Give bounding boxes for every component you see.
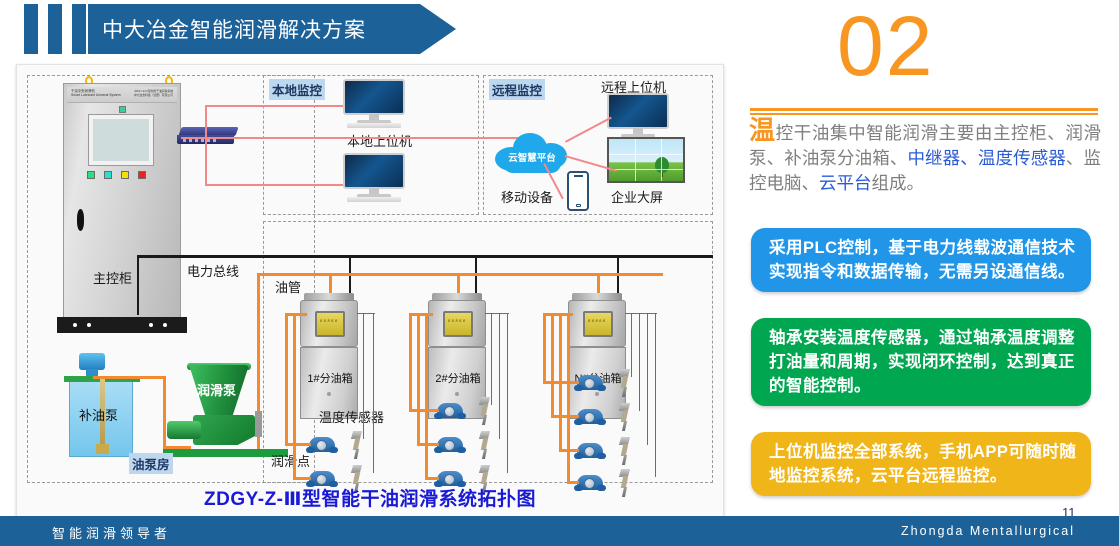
label-remote-host: 远程上位机 bbox=[601, 77, 666, 96]
signal-g2-a bbox=[491, 313, 492, 405]
oil-branch-3 bbox=[597, 273, 600, 293]
section-intro-text: 温控干油集中智能润滑主要由主控柜、润滑泵、补油泵分油箱、中继器、温度传感器、监控… bbox=[749, 120, 1101, 196]
dbox2-display: 88888 bbox=[448, 318, 467, 323]
diagram-caption: ZDGY-Z-Ⅲ型智能干油润滑系统拓扑图 bbox=[17, 484, 723, 511]
topology-diagram-panel: 干油中央润滑机 Smart Lubricant Univeral System … bbox=[16, 64, 724, 518]
signal-g1-a bbox=[363, 313, 364, 439]
enterprise-big-screen bbox=[607, 137, 685, 183]
label-local-monitoring: 本地监控 bbox=[269, 79, 325, 100]
signal-in-g3 bbox=[625, 313, 657, 314]
label-distribution-box-2: 2#分油箱 bbox=[429, 370, 487, 386]
temperature-sensor-icon bbox=[351, 431, 362, 459]
oil-feed-g1-a bbox=[285, 443, 311, 446]
power-drop-3 bbox=[617, 255, 619, 297]
temperature-sensor-icon bbox=[479, 397, 490, 425]
oil-feed-g2-a bbox=[409, 313, 412, 409]
header-accent-bar-2 bbox=[48, 4, 62, 54]
power-bus-line bbox=[137, 255, 713, 258]
intro-highlight1: 中继器、温度传感器 bbox=[907, 148, 1065, 168]
cabinet-lan-stub bbox=[181, 137, 183, 139]
temperature-sensor-icon bbox=[619, 437, 630, 465]
cloud-to-remote-host-link bbox=[565, 117, 612, 143]
footer-slogan: 智能润滑领导者 bbox=[52, 523, 171, 542]
power-drop-1 bbox=[349, 255, 351, 297]
header-accent-bar-3 bbox=[72, 4, 86, 54]
cabinet-hmi-screen[interactable] bbox=[89, 115, 153, 165]
cabinet-base bbox=[57, 317, 187, 333]
oil-feed-g3-c bbox=[559, 313, 562, 449]
cabinet-door-handle[interactable] bbox=[77, 209, 84, 231]
lube-point-bearing bbox=[309, 437, 335, 454]
lube-point-bearing bbox=[437, 437, 463, 454]
refill-to-lube-line bbox=[163, 376, 166, 448]
remote-host-monitor bbox=[607, 93, 669, 141]
oil-feed-g1 bbox=[285, 313, 288, 445]
dbox3-display: 88888 bbox=[588, 318, 607, 323]
intro-lead-char: 温 bbox=[749, 115, 776, 145]
oil-feed-g2-b2 bbox=[417, 443, 439, 446]
label-mobile-device: 移动设备 bbox=[501, 187, 553, 206]
section-divider bbox=[750, 108, 1098, 115]
label-main-cabinet: 主控柜 bbox=[93, 268, 132, 287]
distribution-box-1: 88888 1#分油箱 bbox=[300, 293, 358, 419]
lube-point-bearing bbox=[577, 443, 603, 460]
intro-highlight2: 云平台 bbox=[819, 173, 872, 193]
oil-branch-2 bbox=[457, 273, 460, 293]
signal-g3-d bbox=[655, 313, 656, 477]
temperature-sensor-icon bbox=[619, 369, 630, 397]
oil-feed-g3-d bbox=[567, 313, 570, 481]
oil-out-g3 bbox=[543, 313, 573, 316]
oil-feed-g3-b bbox=[551, 313, 554, 415]
oil-branch-1 bbox=[329, 273, 332, 293]
label-power-bus: 电力总线 bbox=[187, 261, 239, 280]
oil-feed-g2-a2 bbox=[409, 409, 439, 412]
label-enterprise-screen: 企业大屏 bbox=[611, 187, 663, 206]
section-number: 02 bbox=[837, 4, 934, 88]
remote-cluster: 云智慧平台 远程上位机 移动设备 企业大屏 bbox=[483, 75, 713, 215]
signal-g3-b bbox=[639, 313, 640, 411]
indicator-led-green bbox=[87, 171, 95, 179]
title-banner: 中大冶金智能润滑解决方案 bbox=[88, 4, 456, 54]
oil-feed-g2-c bbox=[425, 313, 428, 477]
label-lube-point: 润滑点 bbox=[271, 451, 310, 470]
dbox1-display: 88888 bbox=[320, 318, 339, 323]
temperature-sensor-icon bbox=[479, 431, 490, 459]
distribution-box-2: 88888 2#分油箱 bbox=[428, 293, 486, 419]
indicator-led-cyan bbox=[104, 171, 112, 179]
callout-remote-monitoring: 上位机监控全部系统，手机APP可随时随地监控系统，云平台远程监控。 bbox=[751, 432, 1091, 496]
signal-in-g2 bbox=[485, 313, 509, 314]
indicator-led-red bbox=[138, 171, 146, 179]
network-switch bbox=[177, 127, 237, 145]
page-title: 中大冶金智能润滑解决方案 bbox=[102, 14, 366, 44]
mobile-device-icon bbox=[567, 171, 589, 211]
label-pump-room: 油泵房 bbox=[129, 453, 173, 474]
oil-feed-g1b bbox=[293, 313, 296, 479]
signal-g1-b bbox=[373, 313, 374, 473]
oil-feed-g2-c2 bbox=[425, 477, 439, 480]
lan-to-monitor-bottom bbox=[205, 184, 343, 186]
label-cloud-platform: 云智慧平台 bbox=[495, 150, 569, 164]
power-drop-2 bbox=[475, 255, 477, 297]
oil-out-g1 bbox=[285, 313, 307, 316]
label-temp-sensor: 温度传感器 bbox=[319, 407, 384, 426]
header-accent-bar-1 bbox=[24, 4, 38, 54]
signal-g3-a bbox=[631, 313, 632, 377]
oil-out-g2 bbox=[409, 313, 433, 316]
callout-temp-sensor-control: 轴承安装温度传感器，通过轴承温度调整打油量和周期，实现闭环控制，达到真正的智能控… bbox=[751, 318, 1091, 406]
intro-part3: 组成。 bbox=[872, 173, 925, 193]
footer-company-name: Zhongda Mentallurgical bbox=[901, 524, 1075, 538]
cabinet-nameplate: 干油中央润滑机 Smart Lubricant Univeral System … bbox=[67, 87, 177, 103]
refill-out-line bbox=[93, 376, 165, 379]
local-host-monitor-top bbox=[343, 79, 405, 127]
lan-backbone bbox=[181, 137, 531, 139]
right-content-column: 02 温控干油集中智能润滑主要由主控柜、润滑泵、补油泵分油箱、中继器、温度传感器… bbox=[745, 0, 1119, 520]
oil-feed-g1-b bbox=[293, 477, 311, 480]
cabinet-status-light bbox=[119, 106, 126, 113]
slide-footer: 智能润滑领导者 Zhongda Mentallurgical bbox=[0, 516, 1119, 546]
lan-to-monitor-top bbox=[205, 105, 343, 107]
label-refill-pump: 补油泵 bbox=[79, 405, 118, 424]
indicator-led-yellow bbox=[121, 171, 129, 179]
cabinet-plate-line4: 中大冶金科技（沈阳）有限公司 bbox=[134, 94, 173, 98]
oil-feed-g3-a bbox=[543, 313, 546, 381]
oil-trunk-line bbox=[257, 273, 663, 276]
cabinet-plate-line2: Smart Lubricant Univeral System bbox=[71, 93, 121, 97]
signal-g2-c bbox=[507, 313, 508, 473]
oil-feed-g3-b2 bbox=[551, 415, 579, 418]
label-lube-pump: 润滑泵 bbox=[197, 380, 236, 399]
signal-g2-b bbox=[499, 313, 500, 439]
power-drop-cabinet bbox=[137, 255, 139, 315]
local-host-monitor-bottom bbox=[343, 153, 405, 201]
lan-riser bbox=[205, 105, 207, 185]
callout-plc-control: 采用PLC控制，基于电力线载波通信技术实现指令和数据传输，无需另设通信线。 bbox=[751, 228, 1091, 292]
lube-point-bearing bbox=[577, 409, 603, 426]
slide-header: 中大冶金智能润滑解决方案 bbox=[0, 0, 745, 62]
oil-feed-g2-b bbox=[417, 313, 420, 443]
distribution-box-3: 88888 N#分油箱 bbox=[568, 293, 626, 419]
signal-g3-c bbox=[647, 313, 648, 445]
label-distribution-box-1: 1#分油箱 bbox=[301, 370, 359, 386]
temperature-sensor-icon bbox=[619, 403, 630, 431]
label-oil-pipe: 油管 bbox=[275, 277, 301, 296]
signal-in-g1 bbox=[357, 313, 375, 314]
lube-point-bearing bbox=[437, 403, 463, 420]
label-local-host: 本地上位机 bbox=[347, 131, 412, 150]
lube-point-bearing bbox=[577, 375, 603, 392]
cloud-platform-icon: 云智慧平台 bbox=[495, 133, 569, 173]
